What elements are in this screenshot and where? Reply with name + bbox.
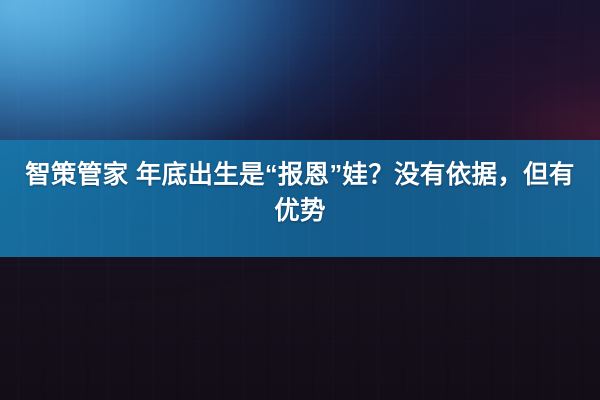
title-banner: 智策管家 年底出生是“报恩”娃？没有依据，但有 优势 [0, 140, 600, 257]
thumbnail-image: 智策管家 年底出生是“报恩”娃？没有依据，但有 优势 [0, 0, 600, 400]
title-line-2: 优势 [274, 193, 326, 229]
title-line-1: 智策管家 年底出生是“报恩”娃？没有依据，但有 [25, 157, 575, 193]
